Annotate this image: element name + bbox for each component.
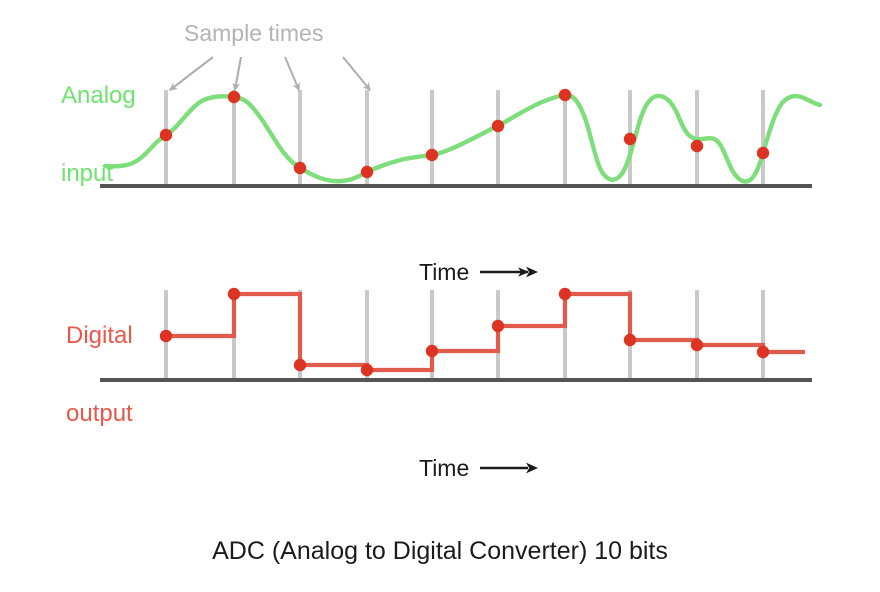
digital-sample-dot-2	[228, 288, 240, 300]
digital-time-arrow-icon	[478, 460, 540, 476]
analog-sample-dots	[160, 89, 769, 178]
digital-output-label: Digital output	[66, 271, 133, 478]
analog-sample-dot-7	[559, 89, 571, 101]
digital-time-label-text: Time	[419, 456, 469, 481]
digital-sample-dot-9	[691, 339, 703, 351]
digital-sample-dot-7	[559, 288, 571, 300]
sample-times-arrow-1-icon	[170, 57, 213, 90]
diagram-caption: ADC (Analog to Digital Converter) 10 bit…	[0, 538, 880, 565]
digital-output-label-line2: output	[66, 401, 133, 427]
sample-times-arrows	[170, 57, 370, 90]
digital-sample-dot-10	[757, 346, 769, 358]
analog-panel	[100, 57, 820, 186]
digital-output-label-line1: Digital	[66, 323, 133, 349]
analog-sample-dot-9	[691, 140, 703, 152]
analog-sample-dot-6	[492, 120, 504, 132]
analog-sample-dot-1	[160, 129, 172, 141]
analog-input-label-line1: Analog	[61, 83, 136, 109]
digital-sample-dot-8	[624, 334, 636, 346]
digital-sample-dot-5	[426, 345, 438, 357]
digital-time-label: Time	[419, 406, 540, 530]
sample-times-arrow-3-icon	[285, 57, 299, 90]
digital-sample-dot-4	[361, 364, 373, 376]
sample-times-label: Sample times	[184, 21, 323, 46]
analog-input-label: Analog input	[61, 31, 136, 238]
diagram-canvas: Analog input Digital output Sample times…	[0, 0, 880, 592]
digital-sample-dot-1	[160, 330, 172, 342]
analog-input-label-line2: input	[61, 161, 136, 187]
analog-sample-dot-3	[294, 162, 306, 174]
analog-sample-dot-4	[361, 166, 373, 178]
sample-times-arrow-2-icon	[235, 57, 241, 90]
analog-waveform	[105, 95, 820, 182]
analog-sample-dot-10	[757, 147, 769, 159]
analog-sample-dot-2	[228, 91, 240, 103]
analog-time-label-text: Time	[419, 260, 469, 285]
analog-time-label: Time	[419, 210, 540, 334]
analog-sample-dot-5	[426, 149, 438, 161]
analog-time-arrow-icon	[478, 264, 540, 280]
digital-sample-dot-3	[294, 359, 306, 371]
analog-sample-dot-8	[624, 133, 636, 145]
sample-times-arrow-4-icon	[343, 57, 370, 90]
